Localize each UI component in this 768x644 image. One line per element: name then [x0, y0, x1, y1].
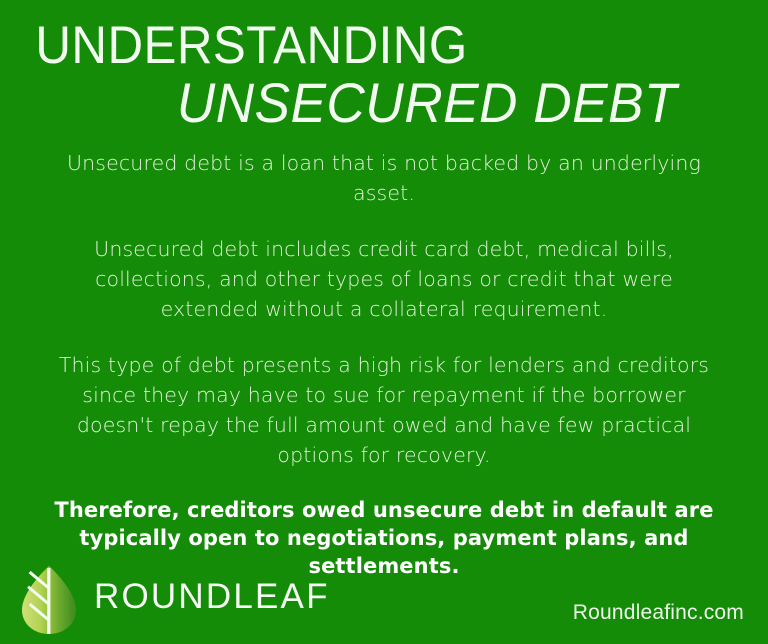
- page-title-line-2: UNSECURED DEBT: [0, 74, 730, 132]
- site-url-link[interactable]: Roundleafinc.com: [573, 601, 744, 625]
- brand-lockup[interactable]: ROUNDLEAF: [18, 564, 330, 636]
- title-block: UNDERSTANDING UNSECURED DEBT: [0, 18, 768, 132]
- infographic-slide: UNDERSTANDING UNSECURED DEBT Unsecured d…: [0, 0, 768, 644]
- page-title-line-1: UNDERSTANDING: [0, 18, 714, 74]
- leaf-icon: [18, 564, 80, 636]
- footer: ROUNDLEAF Roundleafinc.com: [0, 554, 768, 644]
- brand-wordmark: ROUNDLEAF: [94, 578, 330, 622]
- body-paragraph-1: Unsecured debt is a loan that is not bac…: [44, 148, 724, 208]
- body-paragraph-2: Unsecured debt includes credit card debt…: [44, 234, 724, 324]
- body-paragraph-3: This type of debt presents a high risk f…: [44, 350, 724, 470]
- body-copy: Unsecured debt is a loan that is not bac…: [44, 148, 724, 580]
